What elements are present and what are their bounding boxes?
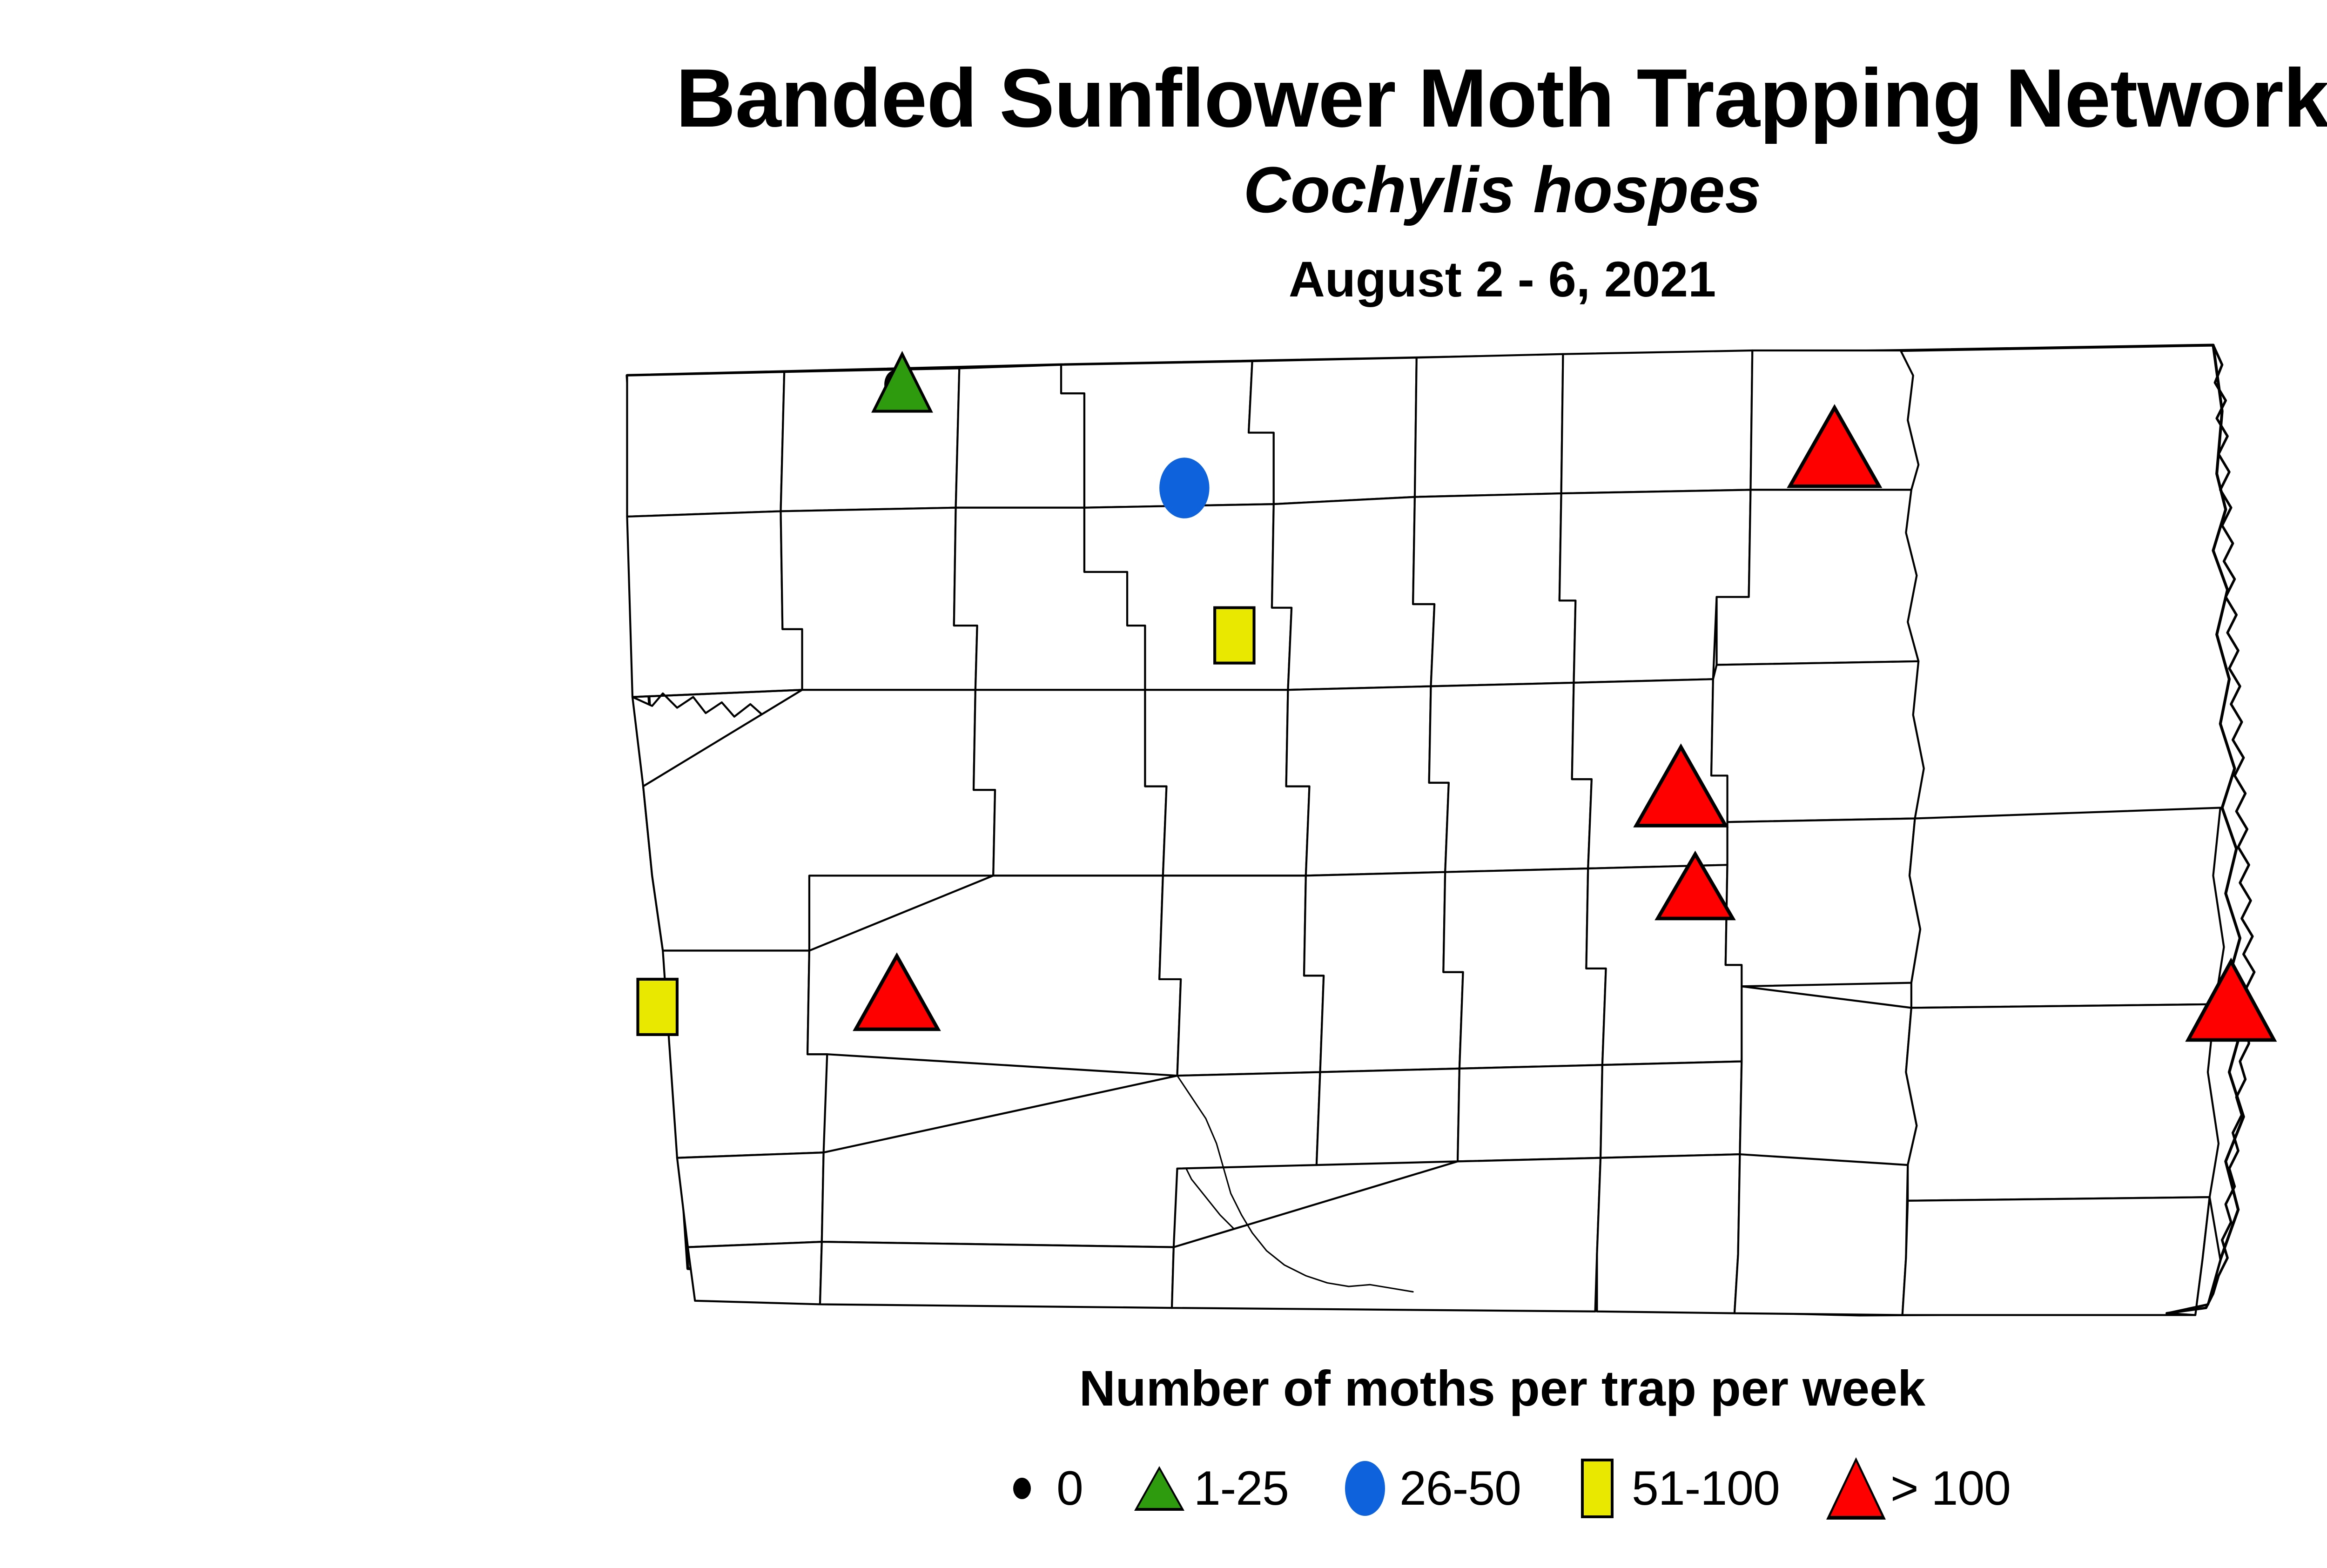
county-towner <box>1415 354 1563 497</box>
county-mcintosh <box>1735 1154 1908 1315</box>
county-emmons <box>1597 1154 1740 1313</box>
county-boundaries <box>627 345 2256 1315</box>
county-adams <box>820 1242 1174 1308</box>
species-subtitle: Cochylis hospes <box>0 155 2327 224</box>
county-barnes <box>1726 819 1920 987</box>
legend-title: Number of moths per trap per week <box>0 1359 2327 1417</box>
county-williams <box>627 511 802 697</box>
county-kidder <box>1443 868 1606 1069</box>
legend-item-2: 26-50 <box>1337 1454 1521 1523</box>
marker-trap-central-yellow <box>1215 608 1254 663</box>
county-ransom <box>1906 1004 2219 1201</box>
legend-label-1: 1-25 <box>1194 1461 1289 1516</box>
county-billings <box>663 951 827 1158</box>
legend-item-1: 1-25 <box>1131 1454 1289 1523</box>
legend-items: 0 1-25 26-50 51-100 > 100 <box>0 1454 2327 1523</box>
county-logan <box>1601 1061 1742 1157</box>
blue-circle-icon <box>1337 1454 1393 1523</box>
county-grant <box>1317 1069 1459 1165</box>
county-cass <box>1910 808 2224 1008</box>
page-title: Banded Sunflower Moth Trapping Network <box>0 56 2327 141</box>
county-nelson <box>1711 661 1924 822</box>
legend-item-3: 51-100 <box>1569 1454 1780 1523</box>
county-dickey <box>1903 1197 2210 1315</box>
county-morton <box>1458 1065 1602 1161</box>
county-burke <box>781 368 960 511</box>
county-eddy <box>1572 679 1731 868</box>
legend-item-4: > 100 <box>1828 1454 2011 1523</box>
county-divide <box>627 372 784 517</box>
legend-label-0: 0 <box>1056 1461 1083 1516</box>
green-triangle-icon <box>1131 1454 1187 1523</box>
date-range-label: August 2 - 6, 2021 <box>0 253 2327 305</box>
legend-item-0: 0 <box>994 1454 1083 1523</box>
county-benson <box>1413 493 1575 686</box>
yellow-square-icon <box>1569 1454 1625 1523</box>
county-stutsman <box>1586 865 1745 1065</box>
county-sheridan <box>1286 686 1449 876</box>
legend-label-3: 51-100 <box>1632 1461 1780 1516</box>
legend-label-4: > 100 <box>1890 1461 2011 1516</box>
county-pierce <box>1272 497 1434 690</box>
county-wells <box>1429 683 1592 872</box>
county-lamoure <box>1740 986 1917 1168</box>
legend: Number of moths per trap per week 0 1-25… <box>0 1359 2327 1523</box>
county-mercer <box>974 690 1166 875</box>
north-dakota-map <box>609 340 2327 1331</box>
county-slope <box>677 1152 824 1247</box>
dot-icon <box>994 1454 1050 1523</box>
legend-label-2: 26-50 <box>1399 1461 1521 1516</box>
marker-trap-north-central <box>1159 458 1209 518</box>
map-figure: Banded Sunflower Moth Trapping Network C… <box>0 0 2327 1568</box>
red-triangle-icon <box>1828 1454 1884 1523</box>
county-cavalier <box>1561 350 1753 493</box>
county-bowman <box>688 1242 822 1304</box>
map-container <box>0 340 2327 1340</box>
marker-trap-west-yellow <box>638 979 677 1035</box>
county-mclean <box>1145 690 1309 875</box>
county-mountrail <box>781 508 977 690</box>
county-oliver <box>1159 875 1324 1076</box>
county-rolette <box>1249 357 1417 504</box>
county-burleigh <box>1304 872 1463 1072</box>
title-block: Banded Sunflower Moth Trapping Network C… <box>0 56 2327 305</box>
